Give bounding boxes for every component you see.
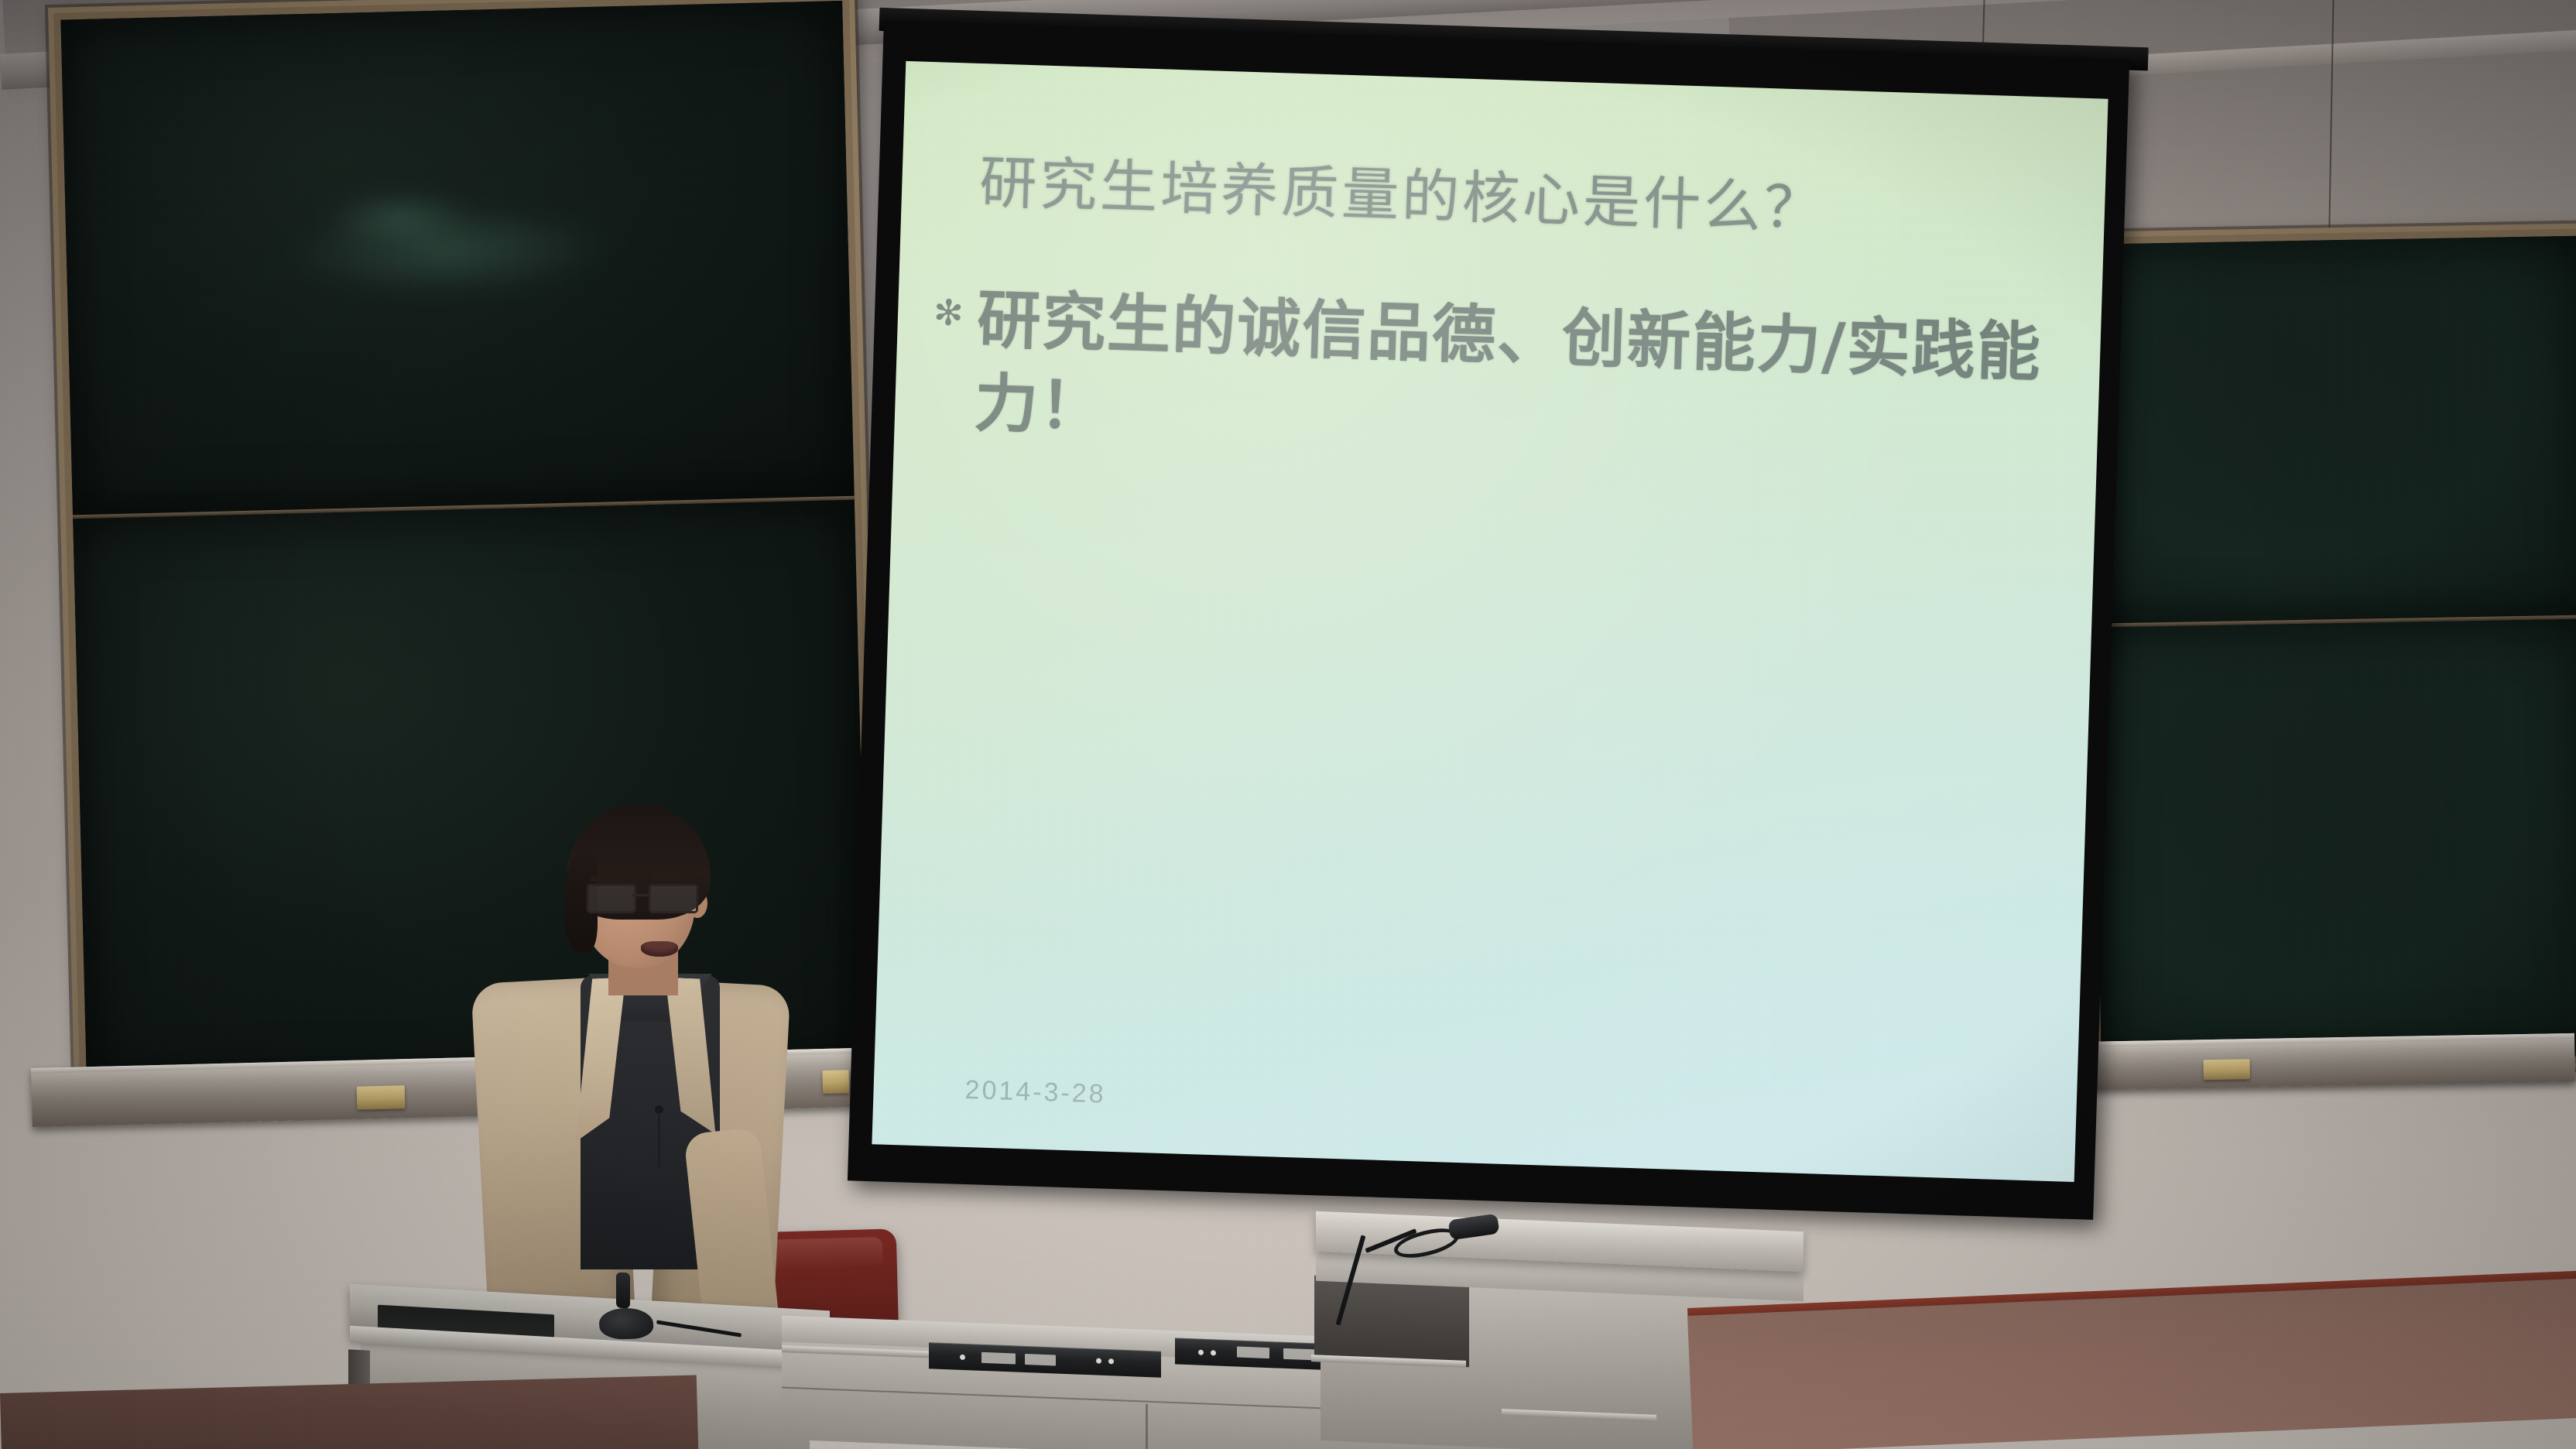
- slide-bullet-text: 研究生的诚信品德、创新能力/实践能力！: [973, 279, 2083, 481]
- glasses-icon: [585, 884, 698, 910]
- bullet-marker-icon: ✻: [933, 294, 964, 331]
- status-led: [1096, 1358, 1101, 1364]
- chalk-eraser: [2203, 1059, 2249, 1080]
- status-led: [1198, 1350, 1204, 1355]
- status-led: [960, 1355, 965, 1360]
- lecture-hall-photo: 研究生培养质量的核心是什么？ ✻ 研究生的诚信品德、创新能力/实践能力！ 201…: [0, 0, 2576, 1449]
- blackboard-panel-upper: [2087, 236, 2576, 624]
- status-led: [1211, 1350, 1216, 1355]
- drive-slot: [981, 1352, 1016, 1365]
- blackboard-panel-lower: [2094, 618, 2576, 1060]
- glasses-lens-left: [587, 884, 636, 913]
- slide-bullet-row: ✻ 研究生的诚信品德、创新能力/实践能力！: [930, 277, 2083, 481]
- slide-title: 研究生培养质量的核心是什么？: [978, 150, 2074, 250]
- microphone-cord: [658, 1113, 660, 1167]
- eyebrow: [590, 876, 627, 882]
- slide-date: 2014-3-28: [964, 1075, 1106, 1110]
- gooseneck-stem[interactable]: [616, 1273, 630, 1309]
- chalk-tray-right: [2079, 1033, 2575, 1090]
- chalk-eraser: [357, 1085, 406, 1110]
- drive-slot: [1237, 1347, 1269, 1359]
- glasses-bridge: [632, 894, 650, 896]
- blackboard-right-surface: [2087, 236, 2576, 1065]
- control-device[interactable]: [598, 1307, 655, 1339]
- eyebrow: [650, 875, 684, 880]
- status-led: [1108, 1358, 1114, 1364]
- console-panel-seam: [1146, 1404, 1148, 1449]
- screen-surface: 研究生培养质量的核心是什么？ ✻ 研究生的诚信品德、创新能力/实践能力！ 201…: [872, 61, 2108, 1182]
- chalk-eraser: [822, 1070, 849, 1094]
- presentation-slide: 研究生培养质量的核心是什么？ ✻ 研究生的诚信品德、创新能力/实践能力！ 201…: [872, 61, 2108, 1182]
- glasses-lens-right: [649, 884, 698, 913]
- drive-slot: [1025, 1354, 1056, 1366]
- projection-screen: 研究生培养质量的核心是什么？ ✻ 研究生的诚信品德、创新能力/实践能力！ 201…: [848, 20, 2129, 1220]
- mouth: [641, 941, 678, 957]
- blackboard-right: [2074, 223, 2576, 1077]
- drive-slot: [1283, 1348, 1314, 1361]
